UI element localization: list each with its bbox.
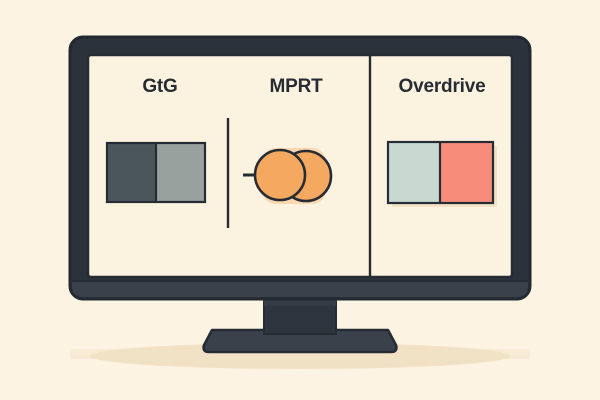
gtg-dark-swatch	[107, 143, 156, 202]
illustration-canvas: GtG MPRT Overdrive	[0, 0, 600, 400]
overdrive-mint-swatch	[388, 142, 440, 203]
panel-label-gtg: GtG	[142, 76, 177, 98]
overdrive-swatch-group	[388, 142, 497, 207]
monitor-chin	[71, 281, 529, 298]
overdrive-salmon-swatch	[440, 142, 493, 203]
monitor-illustration	[0, 0, 600, 400]
panel-label-overdrive: Overdrive	[399, 76, 486, 98]
panel-label-mprt: MPRT	[269, 76, 322, 98]
gtg-light-swatch	[156, 143, 205, 202]
mprt-circle-left	[255, 150, 305, 200]
gtg-swatch-group	[107, 143, 205, 202]
